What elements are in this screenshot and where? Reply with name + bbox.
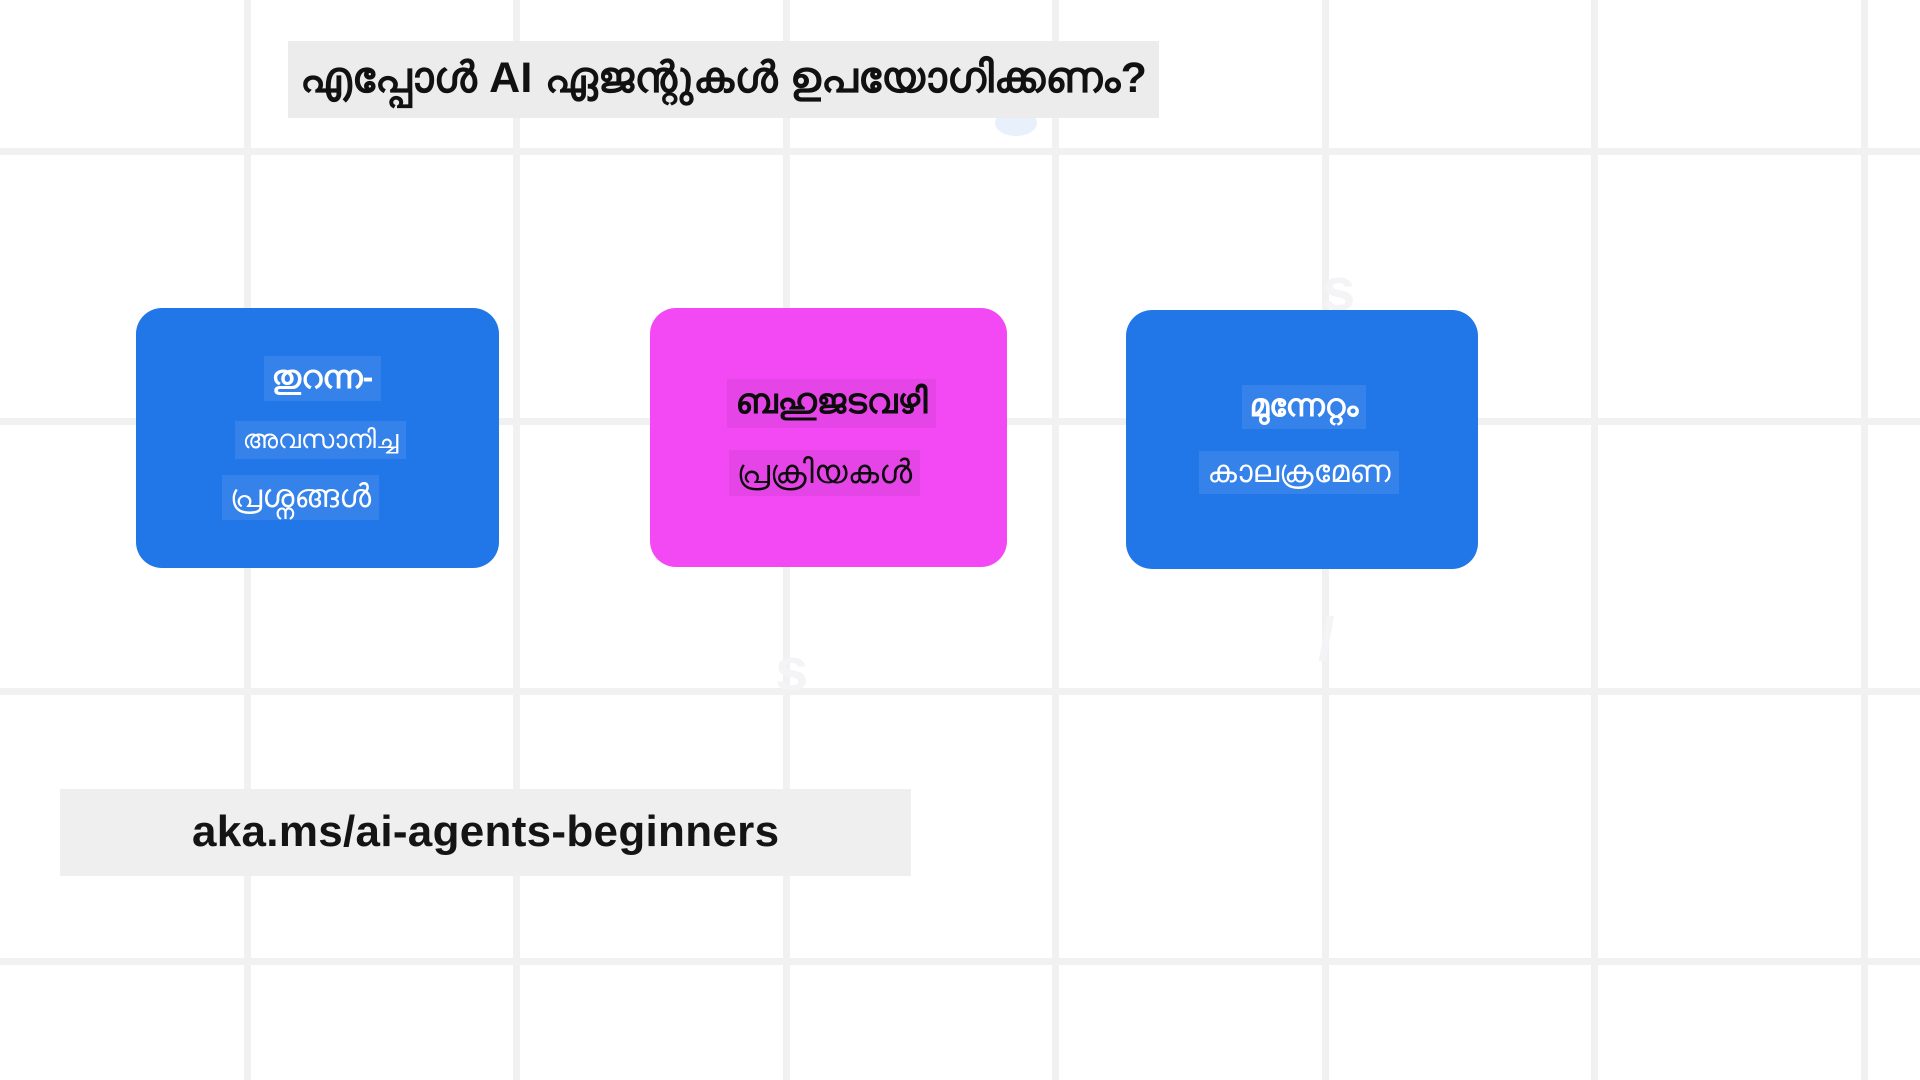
page-title-text: എപ്പോൾ AI ഏജന്റുകൾ ഉപയോഗിക്കണം? xyxy=(288,41,1159,118)
card-line: അവസാനിച്ച xyxy=(235,421,407,459)
ghost-mark: s xyxy=(775,640,808,700)
gridline-horizontal xyxy=(0,148,1920,155)
card-multistep-processes[interactable]: ബഹുജടവഴി പ്രക്രിയകൾ xyxy=(650,308,1007,567)
ghost-mark: / xyxy=(1318,610,1335,670)
card-line: പ്രക്രിയകൾ xyxy=(729,450,920,496)
slide-canvas: s s / എപ്പോൾ AI ഏജന്റുകൾ ഉപയോഗിക്കണം? തു… xyxy=(0,0,1920,1080)
gridline-vertical xyxy=(1052,0,1059,1080)
footer: aka.ms/ai-agents-beginners xyxy=(60,789,911,876)
page-title: എപ്പോൾ AI ഏജന്റുകൾ ഉപയോഗിക്കണം? xyxy=(288,41,1159,118)
gridline-horizontal xyxy=(0,958,1920,965)
card-line: മുന്നേറ്റം xyxy=(1242,385,1367,429)
card-improvement-over-time[interactable]: മുന്നേറ്റം കാലക്രമേണ xyxy=(1126,310,1478,569)
card-line: ബഹുജടവഴി xyxy=(727,379,935,428)
gridline-vertical xyxy=(513,0,520,1080)
card-open-ended-problems[interactable]: തുറന്ന- അവസാനിച്ച പ്രശ്നങ്ങൾ xyxy=(136,308,499,568)
card-line: പ്രശ്നങ്ങൾ xyxy=(222,475,379,520)
card-line: കാലക്രമേണ xyxy=(1199,451,1398,495)
gridline-vertical xyxy=(1861,0,1868,1080)
gridline-horizontal xyxy=(0,688,1920,695)
footer-url-link[interactable]: aka.ms/ai-agents-beginners xyxy=(60,789,911,876)
gridline-vertical xyxy=(1591,0,1598,1080)
card-line: തുറന്ന- xyxy=(264,356,382,401)
